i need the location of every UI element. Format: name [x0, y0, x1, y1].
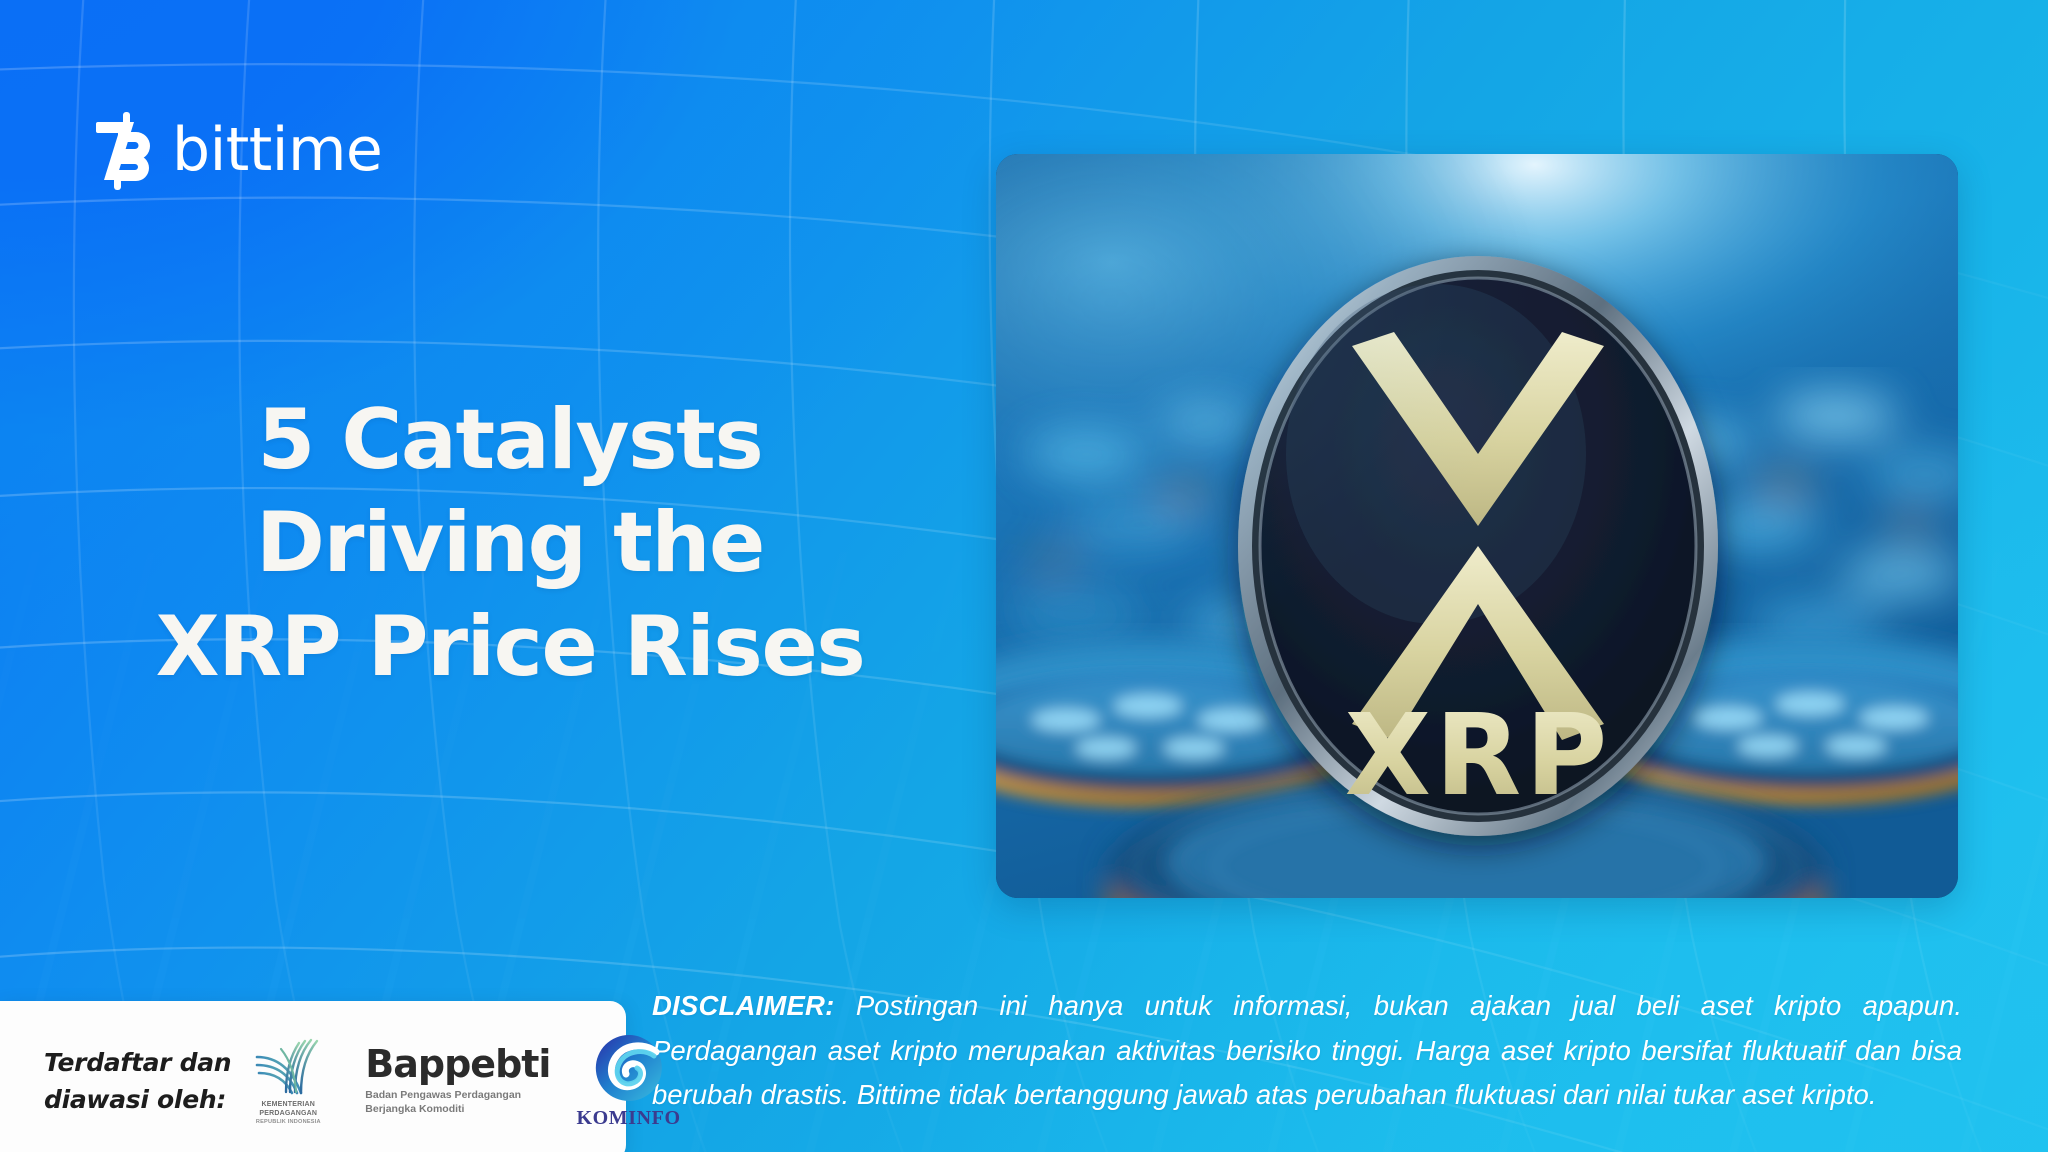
brand-logo-text: bittime — [172, 120, 382, 180]
kemendag-caption-line-3: REPUBLIK INDONESIA — [251, 1119, 325, 1126]
page-title: 5 Catalysts Driving the XRP Price Rises — [60, 388, 960, 698]
xrp-coin-photo: XRP — [996, 154, 1958, 898]
kemendag-caption: KEMENTERIAN PERDAGANGAN REPUBLIK INDONES… — [251, 1101, 325, 1126]
disclaimer-text: DISCLAIMER: Postingan ini hanya untuk in… — [652, 984, 1962, 1118]
kominfo-logo: KOMINFO — [576, 1032, 680, 1130]
bittime-b-icon — [92, 108, 156, 192]
kemendag-logo: KEMENTERIAN PERDAGANGAN REPUBLIK INDONES… — [251, 1035, 325, 1126]
kemendag-caption-line-1: KEMENTERIAN — [251, 1101, 325, 1110]
bappebti-subtitle-line-2: Berjangka Komoditi — [365, 1103, 550, 1117]
regulator-badge-bar: Terdaftar dan diawasi oleh: — [0, 1001, 626, 1152]
regulator-label-line-2: diawasi oleh: — [44, 1081, 231, 1119]
bappebti-name: Bappebti — [365, 1045, 550, 1083]
regulator-label: Terdaftar dan diawasi oleh: — [44, 1044, 231, 1119]
headline-line-3: XRP Price Rises — [60, 595, 960, 698]
poster-canvas: bittime 5 Catalysts Driving the XRP Pric… — [0, 0, 2048, 1152]
brand-logo[interactable]: bittime — [92, 108, 382, 192]
kominfo-name: KOMINFO — [576, 1107, 680, 1130]
bappebti-logo: Bappebti Badan Pengawas Perdagangan Berj… — [365, 1045, 550, 1116]
headline-line-2: Driving the — [60, 491, 960, 594]
disclaimer-label: DISCLAIMER: — [652, 990, 834, 1021]
bappebti-subtitle-line-1: Badan Pengawas Perdagangan — [365, 1089, 550, 1103]
bappebti-subtitle: Badan Pengawas Perdagangan Berjangka Kom… — [365, 1089, 550, 1116]
kemendag-caption-line-2: PERDAGANGAN — [251, 1110, 325, 1119]
disclaimer-body: Postingan ini hanya untuk informasi, buk… — [652, 990, 1962, 1110]
headline-line-1: 5 Catalysts — [60, 388, 960, 491]
regulator-label-line-1: Terdaftar dan — [44, 1044, 231, 1082]
kominfo-icon — [586, 1032, 672, 1106]
kementerian-perdagangan-icon — [251, 1035, 325, 1097]
